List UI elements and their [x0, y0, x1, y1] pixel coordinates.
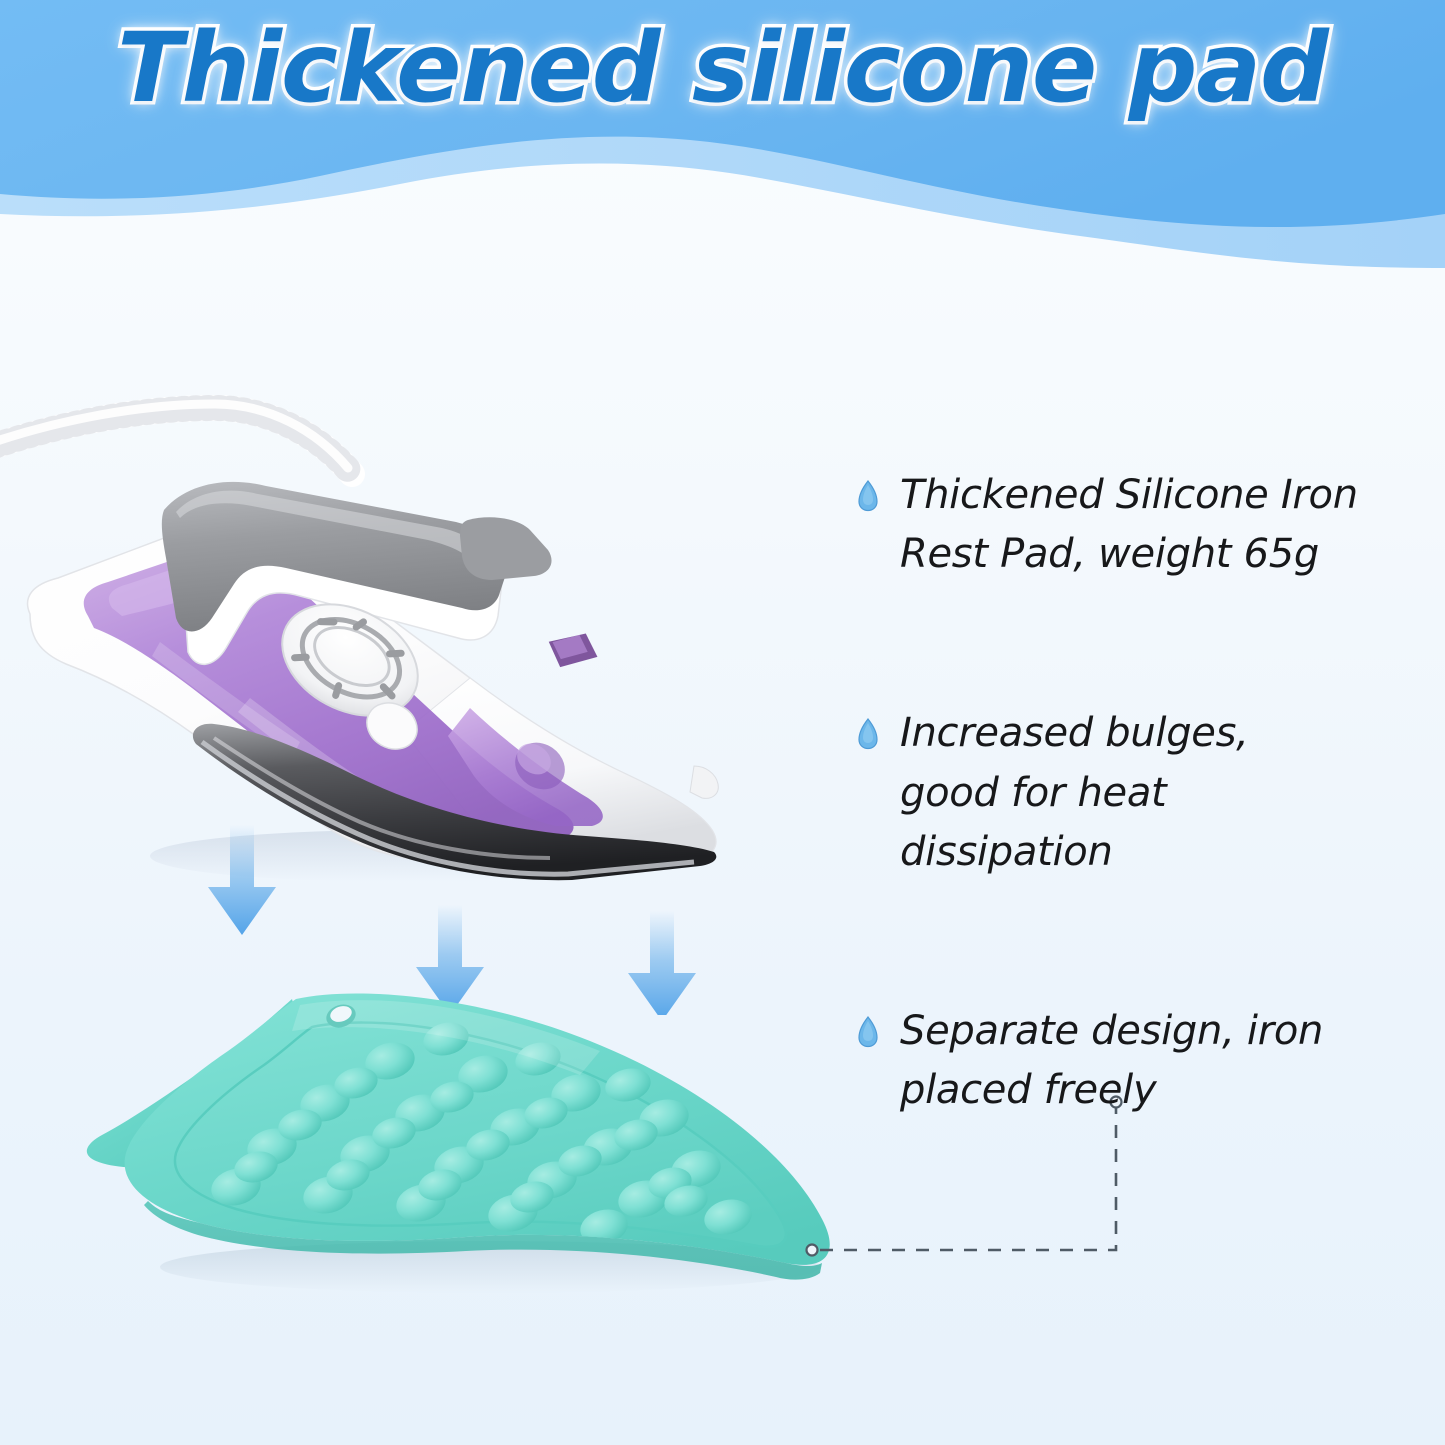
- page-title: Thickened silicone pad: [0, 12, 1445, 124]
- feature-list: Thickened Silicone Iron Rest Pad, weight…: [858, 466, 1438, 1120]
- feature-item-1: Thickened Silicone Iron Rest Pad, weight…: [858, 466, 1438, 584]
- arrow-down-1: [208, 825, 276, 935]
- feature-text-1: Thickened Silicone Iron Rest Pad, weight…: [900, 466, 1430, 584]
- header-banner: Thickened silicone pad: [0, 0, 1445, 268]
- iron-drop-bullet-icon: [858, 480, 878, 512]
- feature-item-2: Increased bulges, good for heat dissipat…: [858, 704, 1438, 882]
- iron-drop-bullet-icon: [858, 718, 878, 750]
- iron-power-cord: [0, 404, 352, 474]
- feature-item-3: Separate design, iron placed freely: [858, 1002, 1438, 1120]
- iron-drop-bullet-icon: [858, 1016, 878, 1048]
- iron-product-image: [0, 296, 800, 896]
- silicone-pad-image: [60, 955, 860, 1300]
- callout-dashed-path: [820, 1108, 1116, 1250]
- callout-endpoint-start: [807, 1245, 818, 1256]
- feature-text-2: Increased bulges, good for heat dissipat…: [900, 704, 1330, 882]
- iron-tip-tab: [690, 766, 718, 798]
- feature-text-3: Separate design, iron placed freely: [900, 1002, 1330, 1120]
- product-infographic: Thickened silicone pad: [0, 0, 1445, 1445]
